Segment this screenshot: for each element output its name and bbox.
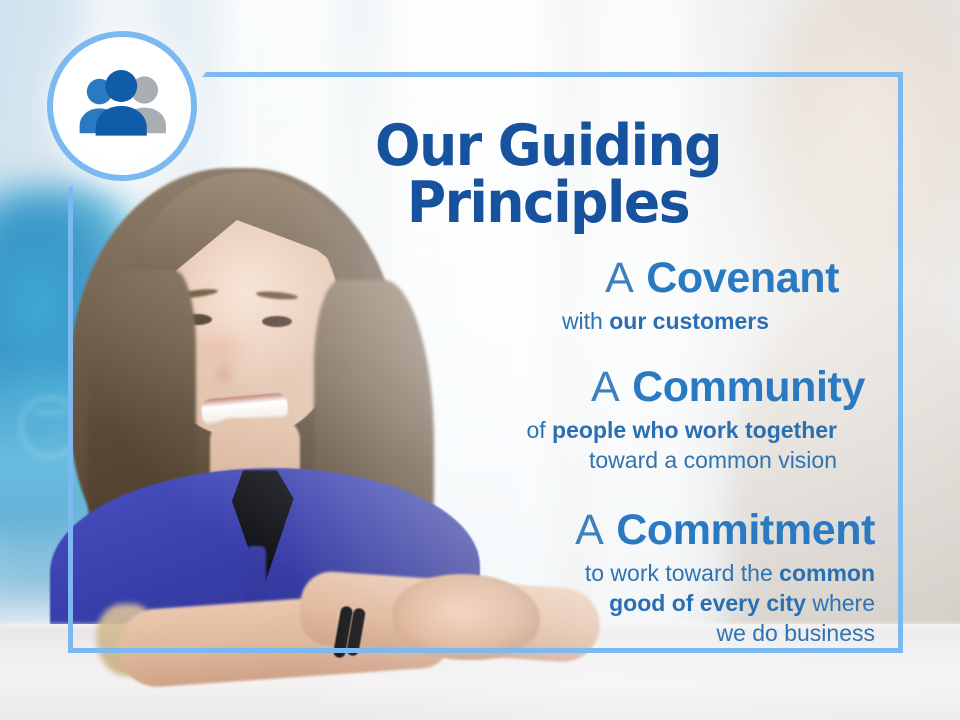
principles-content: Our Guiding Principles A Covenant with o… (213, 77, 903, 648)
principle-subtitle: of people who work together toward a com… (213, 416, 865, 476)
principle-subtitle-line: of people who work together (213, 416, 837, 446)
principle-covenant: A Covenant with our customers (213, 256, 883, 337)
people-group-icon (74, 67, 170, 145)
page-title: Our Guiding Principles (233, 118, 863, 232)
principle-headline: A Commitment (213, 508, 875, 553)
principle-headline: A Covenant (213, 256, 839, 301)
principle-subtitle-line: good of every city where (213, 589, 875, 619)
principle-keyword: Community (632, 363, 865, 411)
principle-subtitle: with our customers (213, 307, 839, 337)
principle-article: A (575, 506, 604, 554)
principle-keyword: Covenant (646, 254, 839, 302)
principle-article: A (605, 254, 634, 302)
frame-border-left (68, 196, 73, 653)
principle-community: A Community of people who work together … (213, 365, 883, 476)
principle-subtitle: to work toward the common good of every … (213, 559, 875, 649)
principle-keyword: Commitment (616, 506, 875, 554)
principle-subtitle-line: to work toward the common (213, 559, 875, 589)
principle-subtitle-line: with our customers (562, 308, 769, 334)
principle-subtitle-line: toward a common vision (213, 446, 837, 476)
guiding-principles-graphic: FLOW AUTOMOTIVE FLOW (0, 0, 960, 720)
principle-commitment: A Commitment to work toward the common g… (213, 508, 883, 649)
principle-headline: A Community (213, 365, 865, 410)
people-group-badge (47, 31, 197, 181)
principle-subtitle-line: we do business (213, 619, 875, 649)
principle-article: A (591, 363, 620, 411)
